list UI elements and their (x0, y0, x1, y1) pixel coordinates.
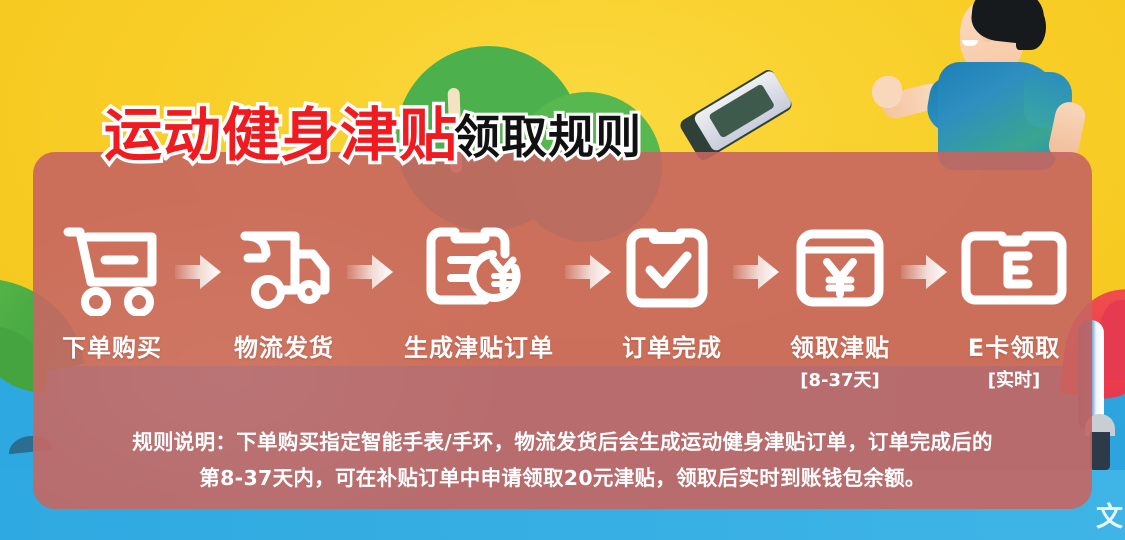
watermark-text: 文 (1096, 495, 1123, 534)
step-label: 下单购买 (62, 328, 162, 363)
delivery-truck-icon (232, 222, 336, 318)
arrow-right-icon-4 (733, 254, 779, 290)
step-label: 领取津贴 (790, 328, 890, 363)
step-item-logistics-shipping[interactable]: 物流发货 (232, 222, 336, 363)
step-item-order-complete[interactable]: 订单完成 (622, 222, 722, 363)
step-item-claim-subsidy[interactable]: 领取津贴 [8-37天] (790, 222, 890, 392)
step-sublabel: [实时] (988, 366, 1040, 392)
step-flow: 下单购买 物流发货 (60, 222, 1070, 392)
step-label: 物流发货 (234, 328, 334, 363)
yuan-card-icon (792, 222, 888, 318)
arrow-right-icon-5 (901, 254, 947, 290)
step-label: 订单完成 (622, 328, 722, 363)
arrow-right-icon-3 (565, 254, 611, 290)
arrow-right-icon-1 (175, 254, 221, 290)
rule-line-1: 规则说明：下单购买指定智能手表/手环，物流发货后会生成运动健身津贴订单，订单完成… (0, 424, 1125, 460)
clipboard-check-icon (622, 222, 722, 318)
step-item-ecard-claim[interactable]: E卡领取 [实时] (958, 222, 1070, 392)
step-label: 生成津贴订单 (404, 328, 554, 363)
running-man-illustration (876, 0, 1125, 165)
step-item-generate-subsidy-order[interactable]: 生成津贴订单 (404, 222, 554, 363)
arrow-right-icon-2 (347, 254, 393, 290)
page-title-red: 运动健身津贴 (104, 101, 458, 169)
step-item-order-purchase[interactable]: 下单购买 (60, 222, 164, 363)
document-yuan-icon (423, 222, 535, 318)
e-card-icon (958, 222, 1070, 318)
step-label: E卡领取 (968, 328, 1060, 363)
page-title: 运动健身津贴领取规则 (104, 106, 642, 164)
step-sublabel: [8-37天] (800, 366, 880, 392)
shopping-cart-icon (60, 222, 164, 318)
page-title-black: 领取规则 (454, 110, 642, 164)
rule-line-2: 第8-37天内，可在补贴订单中申请领取20元津贴，领取后实时到账钱包余额。 (0, 460, 1125, 496)
rule-description: 规则说明：下单购买指定智能手表/手环，物流发货后会生成运动健身津贴订单，订单完成… (0, 424, 1125, 496)
